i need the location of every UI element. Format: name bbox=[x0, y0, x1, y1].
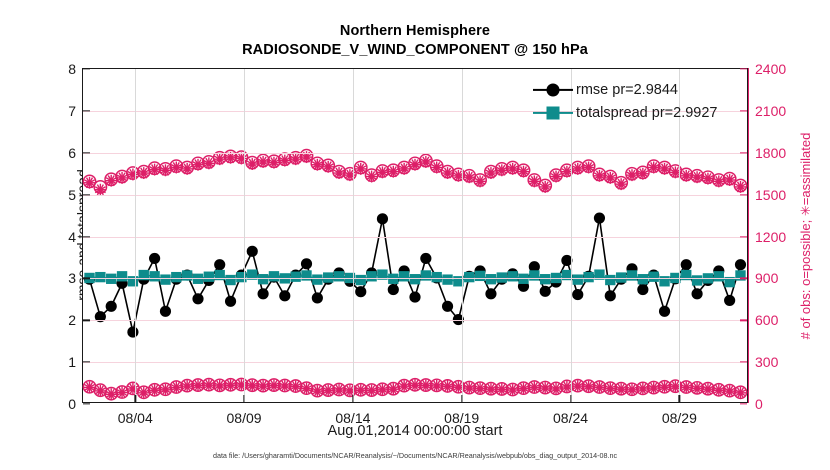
y-axis-left-tickmark bbox=[83, 403, 90, 404]
gridline-horizontal bbox=[83, 362, 747, 363]
y-axis-right-tick-1200: 1200 bbox=[755, 229, 786, 245]
gridline-vertical bbox=[353, 69, 354, 402]
y-axis-right-tickmark bbox=[740, 361, 747, 362]
y-axis-right-tick-2400: 2400 bbox=[755, 61, 786, 77]
x-axis-tick-08-09: 08/09 bbox=[227, 410, 262, 426]
x-axis-tickmark bbox=[135, 395, 136, 402]
chart-legend: rmse pr=2.9844 totalspread pr=2.9927 bbox=[533, 80, 717, 123]
title-line-primary: Northern Hemisphere bbox=[0, 22, 830, 41]
x-axis-tick-08-04: 08/04 bbox=[118, 410, 153, 426]
y-axis-right-tick-300: 300 bbox=[755, 354, 778, 370]
x-axis-tick-08-29: 08/29 bbox=[662, 410, 697, 426]
x-axis-label: Aug.01,2014 00:00:00 start bbox=[328, 423, 503, 439]
y-axis-right-tick-900: 900 bbox=[755, 270, 778, 286]
gridline-horizontal bbox=[83, 195, 747, 196]
x-axis-tickmark bbox=[352, 395, 353, 402]
title-line-secondary: RADIOSONDE_V_WIND_COMPONENT @ 150 hPa bbox=[0, 41, 830, 60]
chart-title: Northern Hemisphere RADIOSONDE_V_WIND_CO… bbox=[0, 22, 830, 60]
y-axis-right-tick-1500: 1500 bbox=[755, 187, 786, 203]
y-axis-right-tick-1800: 1800 bbox=[755, 145, 786, 161]
y-axis-left-tick-7: 7 bbox=[36, 103, 76, 119]
y-axis-right-tickmark bbox=[740, 236, 747, 237]
y-axis-left-tick-2: 2 bbox=[36, 312, 76, 328]
y-axis-right-tickmark bbox=[740, 194, 747, 195]
gridline-horizontal bbox=[83, 153, 747, 154]
y-axis-left-tickmark bbox=[83, 278, 90, 279]
legend-label-totalspread: totalspread pr=2.9927 bbox=[576, 105, 717, 121]
y-axis-left-tick-0: 0 bbox=[36, 396, 76, 412]
y-axis-left-tickmark bbox=[83, 320, 90, 321]
data-file-note: data file: /Users/gharamti/Documents/NCA… bbox=[213, 451, 617, 460]
y-axis-right-label: # of obs: o=possible; ✳=assimilated bbox=[798, 133, 814, 340]
x-axis-tickmark bbox=[679, 395, 680, 402]
y-axis-left-tick-8: 8 bbox=[36, 61, 76, 77]
right-axis-spine bbox=[748, 68, 749, 403]
y-axis-right-tick-600: 600 bbox=[755, 312, 778, 328]
y-axis-left-tickmark bbox=[83, 110, 90, 111]
gridline-vertical bbox=[462, 69, 463, 402]
legend-swatch-totalspread bbox=[533, 105, 573, 121]
gridline-vertical bbox=[135, 69, 136, 402]
y-axis-left-tickmark bbox=[83, 361, 90, 362]
gridline-horizontal bbox=[83, 320, 747, 321]
circle-marker-icon bbox=[547, 84, 560, 97]
x-axis-tickmark bbox=[461, 395, 462, 402]
y-axis-right-tickmark bbox=[740, 278, 747, 279]
square-marker-icon bbox=[547, 107, 560, 120]
y-axis-right-tickmark bbox=[740, 68, 747, 69]
legend-item-rmse: rmse pr=2.9844 bbox=[533, 80, 717, 100]
y-axis-left-tickmark bbox=[83, 68, 90, 69]
gridline-vertical bbox=[244, 69, 245, 402]
legend-label-rmse: rmse pr=2.9844 bbox=[576, 82, 678, 98]
gridline-horizontal bbox=[83, 278, 747, 279]
y-axis-right-tickmark bbox=[740, 320, 747, 321]
y-axis-left-tickmark bbox=[83, 194, 90, 195]
legend-item-totalspread: totalspread pr=2.9927 bbox=[533, 103, 717, 123]
gridline-horizontal bbox=[83, 237, 747, 238]
legend-swatch-rmse bbox=[533, 82, 573, 98]
y-axis-left-tick-6: 6 bbox=[36, 145, 76, 161]
x-axis-tick-08-24: 08/24 bbox=[553, 410, 588, 426]
y-axis-left-tick-5: 5 bbox=[36, 187, 76, 203]
y-axis-left-tick-3: 3 bbox=[36, 270, 76, 286]
y-axis-right-tickmark bbox=[740, 110, 747, 111]
x-axis-tickmark bbox=[243, 395, 244, 402]
y-axis-left-tick-4: 4 bbox=[36, 229, 76, 245]
y-axis-left-tickmark bbox=[83, 236, 90, 237]
y-axis-right-tickmark bbox=[740, 152, 747, 153]
y-axis-left-tick-1: 1 bbox=[36, 354, 76, 370]
y-axis-right-tickmark bbox=[740, 403, 747, 404]
x-axis-tickmark bbox=[570, 395, 571, 402]
chart-figure: Northern Hemisphere RADIOSONDE_V_WIND_CO… bbox=[0, 0, 830, 470]
y-axis-left-tickmark bbox=[83, 152, 90, 153]
y-axis-right-tick-2100: 2100 bbox=[755, 103, 786, 119]
y-axis-right-tick-0: 0 bbox=[755, 396, 763, 412]
